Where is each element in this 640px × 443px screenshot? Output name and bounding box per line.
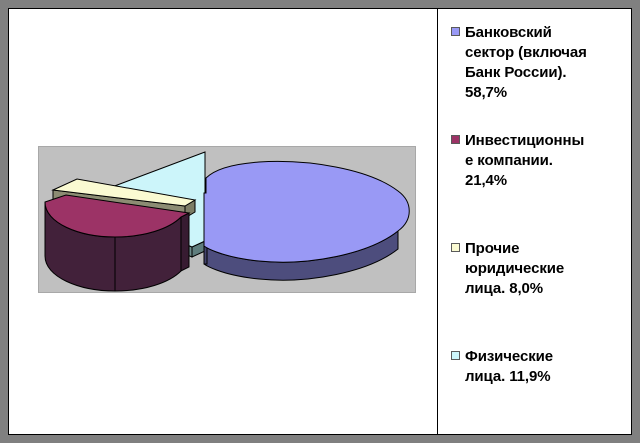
- legend-label-other-legal-entities: Прочие юридические лица. 8,0%: [465, 239, 564, 299]
- pie-slice-investment-companies: [45, 195, 189, 291]
- legend-swatch-investment-companies: [451, 135, 460, 144]
- pie-slice-banking-sector: [204, 161, 409, 280]
- legend-label-banking-sector: Банковский сектор (включая Банк России).…: [465, 23, 587, 103]
- pie-chart-graphic: [9, 9, 437, 434]
- legend-divider: [437, 9, 438, 434]
- legend-swatch-individuals: [451, 351, 460, 360]
- chart-legend: Банковский сектор (включая Банк России).…: [443, 9, 633, 434]
- legend-swatch-banking-sector: [451, 27, 460, 36]
- legend-item-investment-companies[interactable]: Инвестиционны е компании. 21,4%: [451, 131, 629, 191]
- chart-frame: Банковский сектор (включая Банк России).…: [8, 8, 632, 435]
- legend-label-individuals: Физические лица. 11,9%: [465, 347, 553, 387]
- legend-item-individuals[interactable]: Физические лица. 11,9%: [451, 347, 629, 387]
- legend-label-investment-companies: Инвестиционны е компании. 21,4%: [465, 131, 584, 191]
- legend-item-banking-sector[interactable]: Банковский сектор (включая Банк России).…: [451, 23, 629, 103]
- legend-swatch-other-legal-entities: [451, 243, 460, 252]
- legend-item-other-legal-entities[interactable]: Прочие юридические лица. 8,0%: [451, 239, 629, 299]
- pie-chart-plot-region: [9, 9, 437, 434]
